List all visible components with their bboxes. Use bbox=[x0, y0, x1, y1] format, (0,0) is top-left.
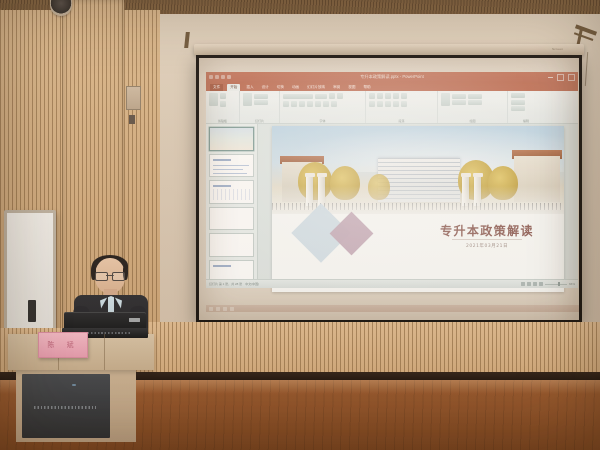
new-slide-icon[interactable] bbox=[243, 93, 252, 106]
copy-icon[interactable] bbox=[220, 101, 226, 107]
status-language[interactable]: 中文(中国) bbox=[245, 282, 259, 286]
slide-canvas-area[interactable]: 专升本政策解读 2021年03月21日 bbox=[258, 124, 578, 283]
align-right-icon[interactable] bbox=[385, 101, 391, 107]
decrease-indent-icon[interactable] bbox=[385, 93, 391, 99]
save-icon[interactable] bbox=[209, 75, 213, 79]
thumbnail-slide-5[interactable] bbox=[209, 233, 254, 257]
zoom-level[interactable]: 66% bbox=[569, 282, 575, 286]
tab-file[interactable]: 文件 bbox=[210, 84, 223, 91]
reset-icon[interactable] bbox=[254, 100, 268, 105]
whiteboard-marker-icon bbox=[28, 300, 36, 322]
window-title: 专升本政策解读.pptx - PowerPoint bbox=[360, 74, 424, 80]
slideshow-icon[interactable] bbox=[227, 75, 231, 79]
ribbon-group-font-label: 字体 bbox=[280, 119, 365, 123]
taskbar-app-icon[interactable] bbox=[230, 307, 234, 311]
shadow-icon[interactable] bbox=[307, 101, 313, 107]
screen-brand-label: Screen bbox=[552, 47, 563, 51]
italic-icon[interactable] bbox=[291, 101, 297, 107]
shape-outline-icon[interactable] bbox=[452, 100, 466, 105]
podium-led-icon bbox=[72, 384, 76, 386]
taskbar-app-icon[interactable] bbox=[216, 307, 220, 311]
wall-control-box[interactable] bbox=[126, 86, 141, 110]
wall-sensor-icon bbox=[129, 115, 135, 124]
status-left: 幻灯片 第 1 张，共 28 张 中文(中国) bbox=[209, 282, 259, 286]
bullets-icon[interactable] bbox=[369, 93, 375, 99]
char-spacing-icon[interactable] bbox=[323, 101, 329, 107]
ribbon-group-font[interactable]: 字体 bbox=[280, 91, 366, 123]
thumbnail-title-bar bbox=[213, 185, 231, 187]
ribbon-group-editing-label: 编辑 bbox=[508, 119, 544, 123]
find-icon[interactable] bbox=[511, 93, 525, 98]
lecture-hall-photo: Screen 专升本政策解读.pptx - PowerPoint bbox=[0, 0, 600, 450]
replace-icon[interactable] bbox=[511, 100, 525, 105]
slide-counter: 幻灯片 第 1 张，共 28 张 bbox=[209, 282, 242, 286]
projection-screen: 专升本政策解读.pptx - PowerPoint 文件 开始 插入 设计 切换… bbox=[196, 55, 582, 323]
undo-icon[interactable] bbox=[215, 75, 219, 79]
ribbon-group-editing[interactable]: 编辑 bbox=[508, 91, 544, 123]
thumbnail-line bbox=[213, 173, 247, 175]
increase-font-icon[interactable] bbox=[329, 93, 335, 99]
laptop-lid bbox=[64, 312, 146, 329]
minimize-icon[interactable] bbox=[548, 74, 553, 78]
thumbnail-slide-1[interactable] bbox=[209, 127, 254, 151]
thumbnail-slide-3[interactable] bbox=[209, 180, 254, 204]
thumbnail-line bbox=[213, 165, 249, 167]
ribbon-group-drawing[interactable]: 绘图 bbox=[438, 91, 508, 123]
quick-styles-icon[interactable] bbox=[468, 100, 482, 105]
ribbon-group-paragraph[interactable]: 段落 bbox=[366, 91, 438, 123]
thumbnail-slide-2[interactable] bbox=[209, 154, 254, 178]
laptop-badge bbox=[129, 318, 140, 322]
slide-date-text[interactable]: 2021年03月21日 bbox=[422, 243, 552, 249]
current-slide[interactable]: 专升本政策解读 2021年03月21日 bbox=[272, 126, 564, 292]
line-spacing-icon[interactable] bbox=[401, 93, 407, 99]
ribbon-group-slides-label: 幻灯片 bbox=[240, 119, 279, 123]
bold-icon[interactable] bbox=[283, 101, 289, 107]
name-placard: 陈 斌 bbox=[38, 332, 88, 358]
justify-icon[interactable] bbox=[393, 101, 399, 107]
thumbnail-title-bar bbox=[213, 265, 231, 267]
align-left-icon[interactable] bbox=[369, 101, 375, 107]
shapes-gallery-icon[interactable] bbox=[441, 93, 450, 106]
podium-vent bbox=[34, 406, 96, 409]
zoom-slider[interactable] bbox=[545, 284, 567, 285]
slide-title-rule bbox=[452, 239, 522, 240]
powerpoint-window[interactable]: 专升本政策解读.pptx - PowerPoint 文件 开始 插入 设计 切换… bbox=[206, 72, 578, 288]
powerpoint-title-bar: 专升本政策解读.pptx - PowerPoint bbox=[206, 72, 578, 83]
slide-thumbnail-panel[interactable] bbox=[206, 124, 258, 283]
slide-title-text[interactable]: 专升本政策解读 bbox=[422, 222, 552, 239]
ribbon-group-drawing-label: 绘图 bbox=[438, 119, 507, 123]
wood-slat-wall-lower bbox=[148, 322, 600, 374]
close-icon[interactable] bbox=[568, 74, 575, 81]
slideshow-view-icon[interactable] bbox=[539, 282, 543, 286]
glasses-icon bbox=[95, 272, 125, 279]
taskbar-app-icon[interactable] bbox=[223, 307, 227, 311]
tab-home[interactable]: 开始 bbox=[227, 84, 240, 91]
thumbnail-image bbox=[210, 128, 253, 150]
thumbnail-slide-4[interactable] bbox=[209, 207, 254, 231]
sorter-view-icon[interactable] bbox=[527, 282, 531, 286]
paste-icon[interactable] bbox=[209, 93, 218, 106]
underline-icon[interactable] bbox=[299, 101, 305, 107]
os-taskbar[interactable] bbox=[206, 305, 581, 312]
font-size-select[interactable] bbox=[315, 94, 327, 99]
increase-indent-icon[interactable] bbox=[393, 93, 399, 99]
numbering-icon[interactable] bbox=[377, 93, 383, 99]
ribbon-group-paragraph-label: 段落 bbox=[366, 119, 437, 123]
cut-icon[interactable] bbox=[220, 93, 226, 99]
layout-icon[interactable] bbox=[254, 94, 268, 99]
ribbon-group-clipboard-label: 剪贴板 bbox=[206, 119, 239, 123]
status-right[interactable]: 66% bbox=[521, 282, 575, 286]
font-name-select[interactable] bbox=[283, 94, 313, 99]
strikethrough-icon[interactable] bbox=[315, 101, 321, 107]
thumbnail-table bbox=[213, 189, 250, 200]
ribbon-group-slides[interactable]: 幻灯片 bbox=[240, 91, 280, 123]
start-icon[interactable] bbox=[209, 307, 213, 311]
redo-icon[interactable] bbox=[221, 75, 225, 79]
projection-screen-housing bbox=[194, 44, 584, 55]
window-controls[interactable] bbox=[548, 74, 575, 81]
quick-access-toolbar[interactable] bbox=[209, 75, 231, 79]
columns-icon[interactable] bbox=[401, 101, 407, 107]
normal-view-icon[interactable] bbox=[521, 282, 525, 286]
select-icon[interactable] bbox=[511, 106, 525, 111]
slide-photo bbox=[272, 126, 564, 214]
maximize-icon[interactable] bbox=[557, 74, 564, 81]
name-placard-text: 陈 斌 bbox=[39, 340, 87, 350]
shape-fill-icon[interactable] bbox=[452, 94, 466, 99]
decrease-font-icon[interactable] bbox=[337, 93, 343, 99]
thumbnail-line bbox=[213, 169, 243, 171]
ribbon-tabs[interactable]: 文件 开始 插入 设计 切换 动画 幻灯片放映 审阅 视图 帮助 bbox=[206, 83, 578, 91]
ribbon[interactable]: 剪贴板 幻灯片 bbox=[206, 91, 578, 124]
reading-view-icon[interactable] bbox=[533, 282, 537, 286]
arrange-icon[interactable] bbox=[468, 94, 482, 99]
ribbon-group-clipboard[interactable]: 剪贴板 bbox=[206, 91, 240, 123]
align-center-icon[interactable] bbox=[377, 101, 383, 107]
editor-body: 专升本政策解读 2021年03月21日 bbox=[206, 124, 578, 283]
podium-seam bbox=[104, 334, 105, 370]
font-color-icon[interactable] bbox=[331, 101, 337, 107]
status-bar[interactable]: 幻灯片 第 1 张，共 28 张 中文(中国) 66% bbox=[206, 279, 578, 288]
thumbnail-title-bar bbox=[213, 159, 231, 161]
